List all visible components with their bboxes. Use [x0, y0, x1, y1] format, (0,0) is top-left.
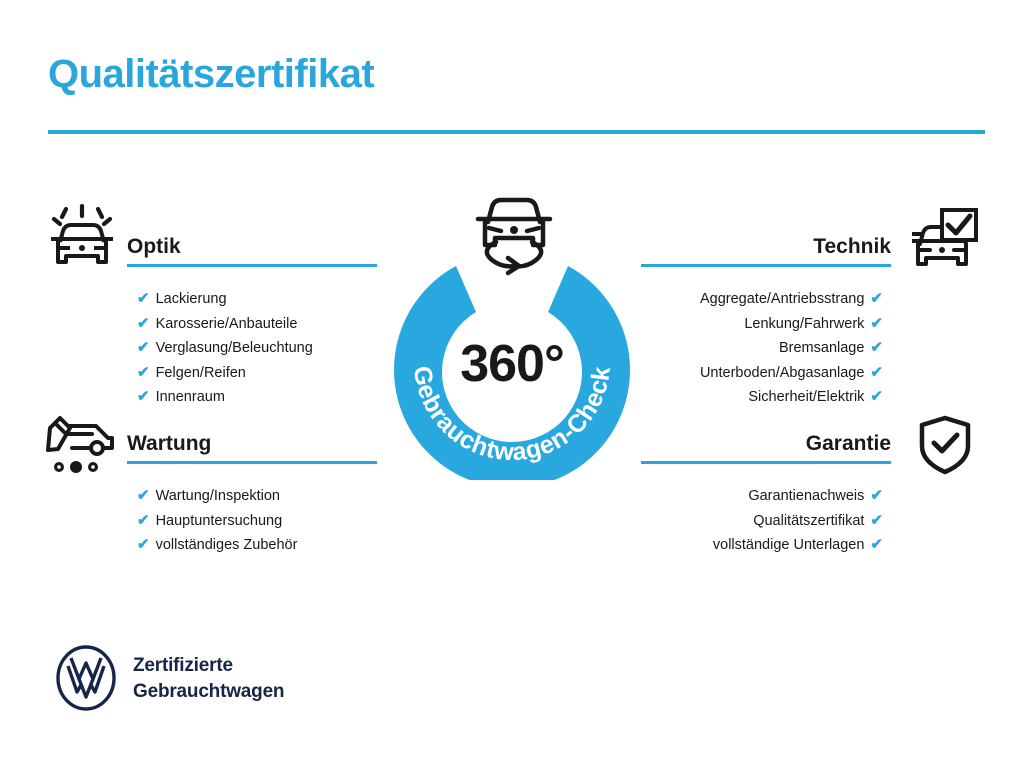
list-item-label: vollständige Unterlagen	[713, 537, 865, 553]
check-icon: ✔	[870, 536, 883, 553]
check-icon: ✔	[137, 388, 150, 405]
check-icon: ✔	[137, 339, 150, 356]
list-item-label: Sicherheit/Elektrik	[748, 389, 864, 405]
list-item: Aggregate/Antriebsstrang✔	[641, 287, 891, 312]
section-garantie-divider	[641, 461, 891, 464]
vw-logo-icon	[55, 645, 117, 716]
section-garantie-title: Garantie	[641, 430, 891, 458]
section-technik: Technik Aggregate/Antriebsstrang✔ Lenkun…	[641, 233, 891, 410]
section-optik-divider	[127, 264, 377, 267]
check-icon: ✔	[137, 364, 150, 381]
list-item: ✔Innenraum	[127, 385, 377, 410]
list-item: Garantienachweis✔	[641, 484, 891, 509]
list-item: Qualitätszertifikat✔	[641, 509, 891, 534]
list-item: ✔Karosserie/Anbauteile	[127, 312, 377, 337]
section-wartung-divider	[127, 461, 377, 464]
badge-center-label: 360°	[378, 334, 646, 394]
list-item-label: Verglasung/Beleuchtung	[156, 340, 313, 356]
section-wartung-list: ✔Wartung/Inspektion ✔Hauptuntersuchung ✔…	[127, 484, 377, 558]
list-item-label: Qualitätszertifikat	[753, 513, 864, 529]
section-wartung-header: Wartung	[127, 430, 377, 470]
list-item: ✔Lackierung	[127, 287, 377, 312]
check-icon: ✔	[137, 512, 150, 529]
check-icon: ✔	[870, 388, 883, 405]
section-technik-title: Technik	[641, 233, 891, 261]
list-item-label: Garantienachweis	[748, 488, 864, 504]
car-checkbox-icon	[912, 208, 978, 277]
list-item-label: Innenraum	[156, 389, 225, 405]
list-item: vollständige Unterlagen✔	[641, 533, 891, 558]
list-item: ✔Verglasung/Beleuchtung	[127, 336, 377, 361]
check-icon: ✔	[137, 290, 150, 307]
list-item: Bremsanlage✔	[641, 336, 891, 361]
list-item-label: Bremsanlage	[779, 340, 864, 356]
check-icon: ✔	[137, 536, 150, 553]
shield-check-icon	[916, 414, 974, 481]
check-icon: ✔	[870, 315, 883, 332]
check-icon: ✔	[870, 339, 883, 356]
check-icon: ✔	[137, 315, 150, 332]
page-title: Qualitätszertifikat	[48, 52, 374, 96]
list-item-label: Lackierung	[156, 291, 227, 307]
section-technik-header: Technik	[641, 233, 891, 273]
check-icon: ✔	[870, 290, 883, 307]
vw-certified-logo: Zertifizierte Gebrauchtwagen	[55, 645, 355, 715]
list-item: Unterboden/Abgasanlage✔	[641, 361, 891, 386]
list-item: ✔Wartung/Inspektion	[127, 484, 377, 509]
car-shine-icon	[46, 204, 118, 281]
pencil-car-icon	[46, 414, 118, 481]
section-optik-header: Optik	[127, 233, 377, 273]
list-item: ✔Felgen/Reifen	[127, 361, 377, 386]
check-icon: ✔	[870, 512, 883, 529]
section-wartung: Wartung ✔Wartung/Inspektion ✔Hauptunters…	[127, 430, 377, 558]
section-optik: Optik ✔Lackierung ✔Karosserie/Anbauteile…	[127, 233, 377, 410]
check-icon: ✔	[870, 364, 883, 381]
section-technik-list: Aggregate/Antriebsstrang✔ Lenkung/Fahrwe…	[641, 287, 891, 410]
section-garantie: Garantie Garantienachweis✔ Qualitätszert…	[641, 430, 891, 558]
section-garantie-list: Garantienachweis✔ Qualitätszertifikat✔ v…	[641, 484, 891, 558]
vw-logo-text: Zertifizierte Gebrauchtwagen	[133, 653, 284, 705]
section-optik-list: ✔Lackierung ✔Karosserie/Anbauteile ✔Verg…	[127, 287, 377, 410]
list-item-label: Lenkung/Fahrwerk	[744, 316, 864, 332]
badge-360-check: Gebrauchtwagen-Check 360°	[378, 190, 646, 480]
list-item: Lenkung/Fahrwerk✔	[641, 312, 891, 337]
list-item-label: Hauptuntersuchung	[156, 513, 283, 529]
vw-logo-line2: Gebrauchtwagen	[133, 679, 284, 705]
list-item-label: vollständiges Zubehör	[156, 537, 298, 553]
vw-logo-line1: Zertifizierte	[133, 653, 284, 679]
section-wartung-title: Wartung	[127, 430, 377, 458]
list-item-label: Unterboden/Abgasanlage	[700, 365, 864, 381]
section-optik-title: Optik	[127, 233, 377, 261]
list-item-label: Karosserie/Anbauteile	[156, 316, 298, 332]
list-item-label: Aggregate/Antriebsstrang	[700, 291, 864, 307]
list-item: ✔vollständiges Zubehör	[127, 533, 377, 558]
list-item-label: Felgen/Reifen	[156, 365, 246, 381]
title-divider	[48, 130, 985, 134]
list-item: Sicherheit/Elektrik✔	[641, 385, 891, 410]
list-item: ✔Hauptuntersuchung	[127, 509, 377, 534]
section-technik-divider	[641, 264, 891, 267]
check-icon: ✔	[870, 487, 883, 504]
list-item-label: Wartung/Inspektion	[156, 488, 280, 504]
check-icon: ✔	[137, 487, 150, 504]
section-garantie-header: Garantie	[641, 430, 891, 470]
certificate-page: Qualitätszertifikat Optik	[0, 0, 1024, 768]
